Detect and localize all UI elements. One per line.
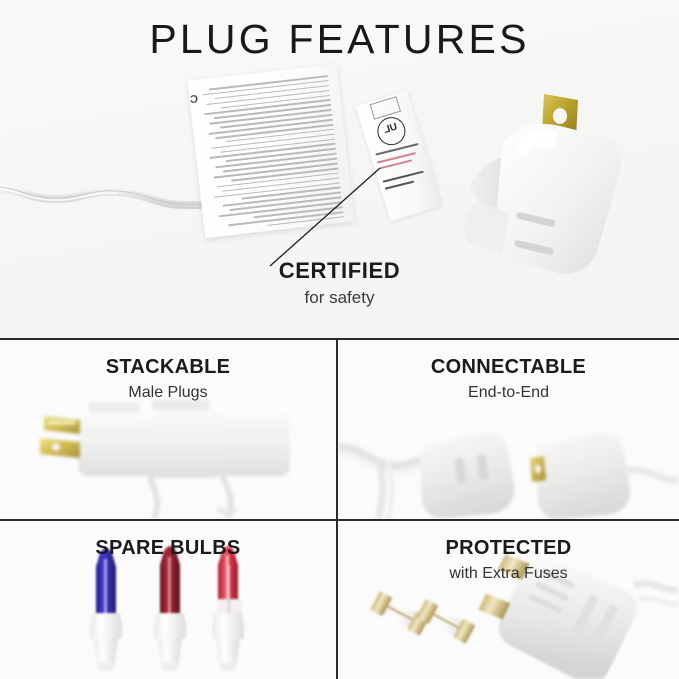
- callout-subtitle: for safety: [0, 288, 679, 308]
- panel-protected-subtitle: with Extra Fuses: [338, 565, 679, 583]
- panel-stackable-subtitle: Male Plugs: [0, 384, 336, 402]
- panel-connectable: CONNECTABLE End-to-End: [338, 340, 679, 519]
- callout-leader-line: [268, 168, 383, 268]
- ul-tag-textline: [385, 181, 414, 190]
- panel-stackable-title: STACKABLE: [0, 356, 336, 379]
- callout-title: CERTIFIED: [0, 258, 679, 284]
- plug-features-infographic: PLUG FEATURES: [0, 0, 679, 679]
- panel-spare-bulbs: SPARE BULBS: [0, 521, 336, 679]
- panel-protected: PROTECTED with Extra Fuses: [338, 521, 679, 679]
- hero-section: PLUG FEATURES: [0, 0, 679, 339]
- ul-tag-box: [370, 96, 401, 119]
- page-title: PLUG FEATURES: [0, 16, 679, 63]
- panel-protected-title: PROTECTED: [338, 537, 679, 560]
- panel-spare-bulbs-title: SPARE BULBS: [0, 537, 336, 560]
- panel-connectable-title: CONNECTABLE: [338, 356, 679, 379]
- ul-logo-icon: [374, 114, 409, 149]
- panel-stackable: STACKABLE Male Plugs: [0, 340, 336, 519]
- ul-tag-textline: [377, 152, 416, 163]
- caution-label: CAUTION: [188, 93, 199, 106]
- panel-connectable-subtitle: End-to-End: [338, 384, 679, 402]
- ul-tag-textline: [383, 171, 424, 183]
